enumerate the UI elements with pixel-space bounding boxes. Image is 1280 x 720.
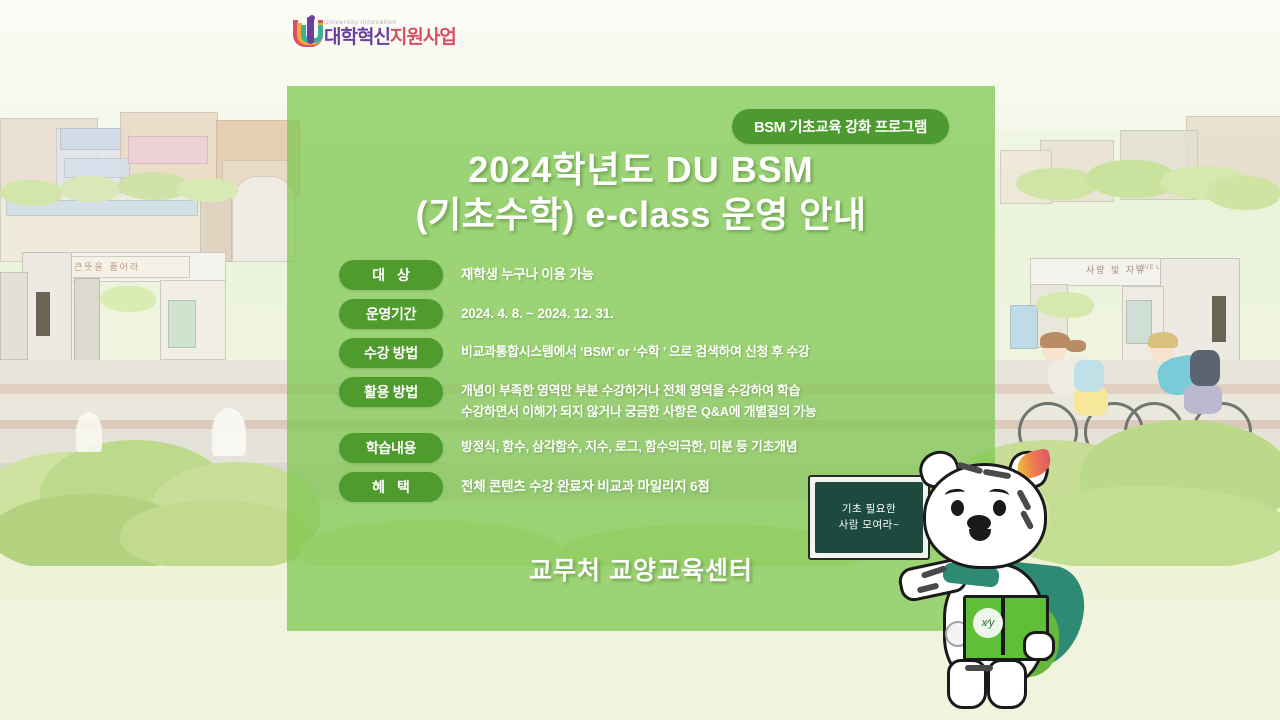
gate-wall (0, 272, 28, 360)
row-value-curriculum: 방정식, 함수, 삼각함수, 지수, 로그, 함수의극한, 미분 등 기초개념 (461, 433, 797, 458)
gate-name-plate (36, 292, 50, 336)
sculpture (76, 412, 102, 452)
tree (100, 286, 156, 312)
row-value-line: 2024. 4. 8. ~ 2024. 12. 31. (461, 303, 614, 325)
building-window-band (60, 128, 124, 150)
tree (1036, 292, 1094, 318)
row-value-line: 전체 콘텐츠 수강 완료자 비교과 마일리지 6점 (461, 476, 710, 498)
logo-english-text: University innovation (324, 20, 456, 27)
row-value-line: 개념이 부족한 영역만 부분 수강하거나 전체 영역을 수강하여 학습 (461, 381, 817, 402)
book-symbol: x⁄y (973, 608, 1003, 638)
info-row: 대상 재학생 누구나 이용 가능 (339, 260, 959, 290)
tree (1016, 168, 1096, 200)
row-value-target: 재학생 누구나 이용 가능 (461, 260, 594, 286)
stripe (965, 665, 993, 671)
sculpture (212, 408, 246, 456)
info-row: 운영기간 2024. 4. 8. ~ 2024. 12. 31. (339, 299, 959, 329)
tree (0, 180, 62, 206)
building-window-band (128, 136, 208, 164)
row-label-usage-method: 활용 방법 (339, 377, 443, 407)
gate-pillar (74, 278, 100, 362)
hand (1023, 631, 1055, 661)
gate-left-text: 큰뜻을 품어라 (74, 260, 140, 273)
tree (176, 178, 238, 202)
eye-left (951, 500, 964, 516)
logo-korean-part2: 지원사업 (390, 27, 456, 48)
row-value-usage-method: 개념이 부족한 영역만 부분 수강하거나 전체 영역을 수강하여 학습 수강하면… (461, 377, 817, 422)
row-value-benefit: 전체 콘텐츠 수강 완료자 비교과 마일리지 6점 (461, 472, 710, 498)
tree (1206, 176, 1280, 210)
university-innovation-logo: University innovation 대학혁신지원사업 (293, 17, 456, 47)
row-value-enrollment-method: 비교과통합시스템에서 ‘BSM’ or ‘수학 ’ 으로 검색하여 신청 후 수… (461, 338, 810, 363)
poster: 큰뜻을 품어라 사랑 빛 자유 LOVE LIGHT FREEDOM (0, 0, 1280, 720)
row-label-curriculum: 학습내용 (339, 433, 443, 463)
tree (60, 176, 120, 202)
blackboard-line-2: 사람 모여라~ (839, 518, 900, 533)
info-row: 학습내용 방정식, 함수, 삼각함수, 지수, 로그, 함수의극한, 미분 등 … (339, 433, 959, 463)
info-row: 활용 방법 개념이 부족한 영역만 부분 수강하거나 전체 영역을 수강하여 학… (339, 377, 959, 422)
title-line-2: (기초수학) e-class 운영 안내 (287, 193, 995, 238)
gate-name-plate (1212, 296, 1226, 342)
program-badge: BSM 기초교육 강화 프로그램 (732, 109, 949, 144)
row-label-benefit: 혜택 (339, 472, 443, 502)
info-rows: 대상 재학생 누구나 이용 가능 운영기간 2024. 4. 8. ~ 2024… (339, 260, 959, 511)
row-value-line: 비교과통합시스템에서 ‘BSM’ or ‘수학 ’ 으로 검색하여 신청 후 수… (461, 342, 810, 363)
row-label-enrollment-method: 수강 방법 (339, 338, 443, 368)
eye-right (993, 500, 1006, 516)
gate-door (168, 300, 196, 348)
logo-korean-text: 대학혁신지원사업 (324, 28, 456, 47)
notice-board (1010, 305, 1038, 349)
blackboard-line-1: 기초 필요한 (842, 502, 896, 517)
logo-korean-part1: 대학혁신 (324, 27, 390, 48)
tiger-mascot: x⁄y (905, 445, 1120, 710)
leg-right (987, 659, 1027, 709)
row-value-line: 수강하면서 이해가 되지 않거나 궁금한 사항은 Q&A에 개별질의 가능 (461, 402, 817, 423)
title-line-1: 2024학년도 DU BSM (287, 148, 995, 193)
info-row: 수강 방법 비교과통합시스템에서 ‘BSM’ or ‘수학 ’ 으로 검색하여 … (339, 338, 959, 368)
logo-mark-icon (293, 17, 319, 47)
row-label-target: 대상 (339, 260, 443, 290)
row-label-period: 운영기간 (339, 299, 443, 329)
page-title: 2024학년도 DU BSM (기초수학) e-class 운영 안내 (287, 148, 995, 237)
bush (120, 500, 310, 570)
row-value-period: 2024. 4. 8. ~ 2024. 12. 31. (461, 299, 614, 325)
building-window-band (64, 158, 130, 178)
row-value-line: 방정식, 함수, 삼각함수, 지수, 로그, 함수의극한, 미분 등 기초개념 (461, 437, 797, 458)
row-value-line: 재학생 누구나 이용 가능 (461, 264, 594, 286)
